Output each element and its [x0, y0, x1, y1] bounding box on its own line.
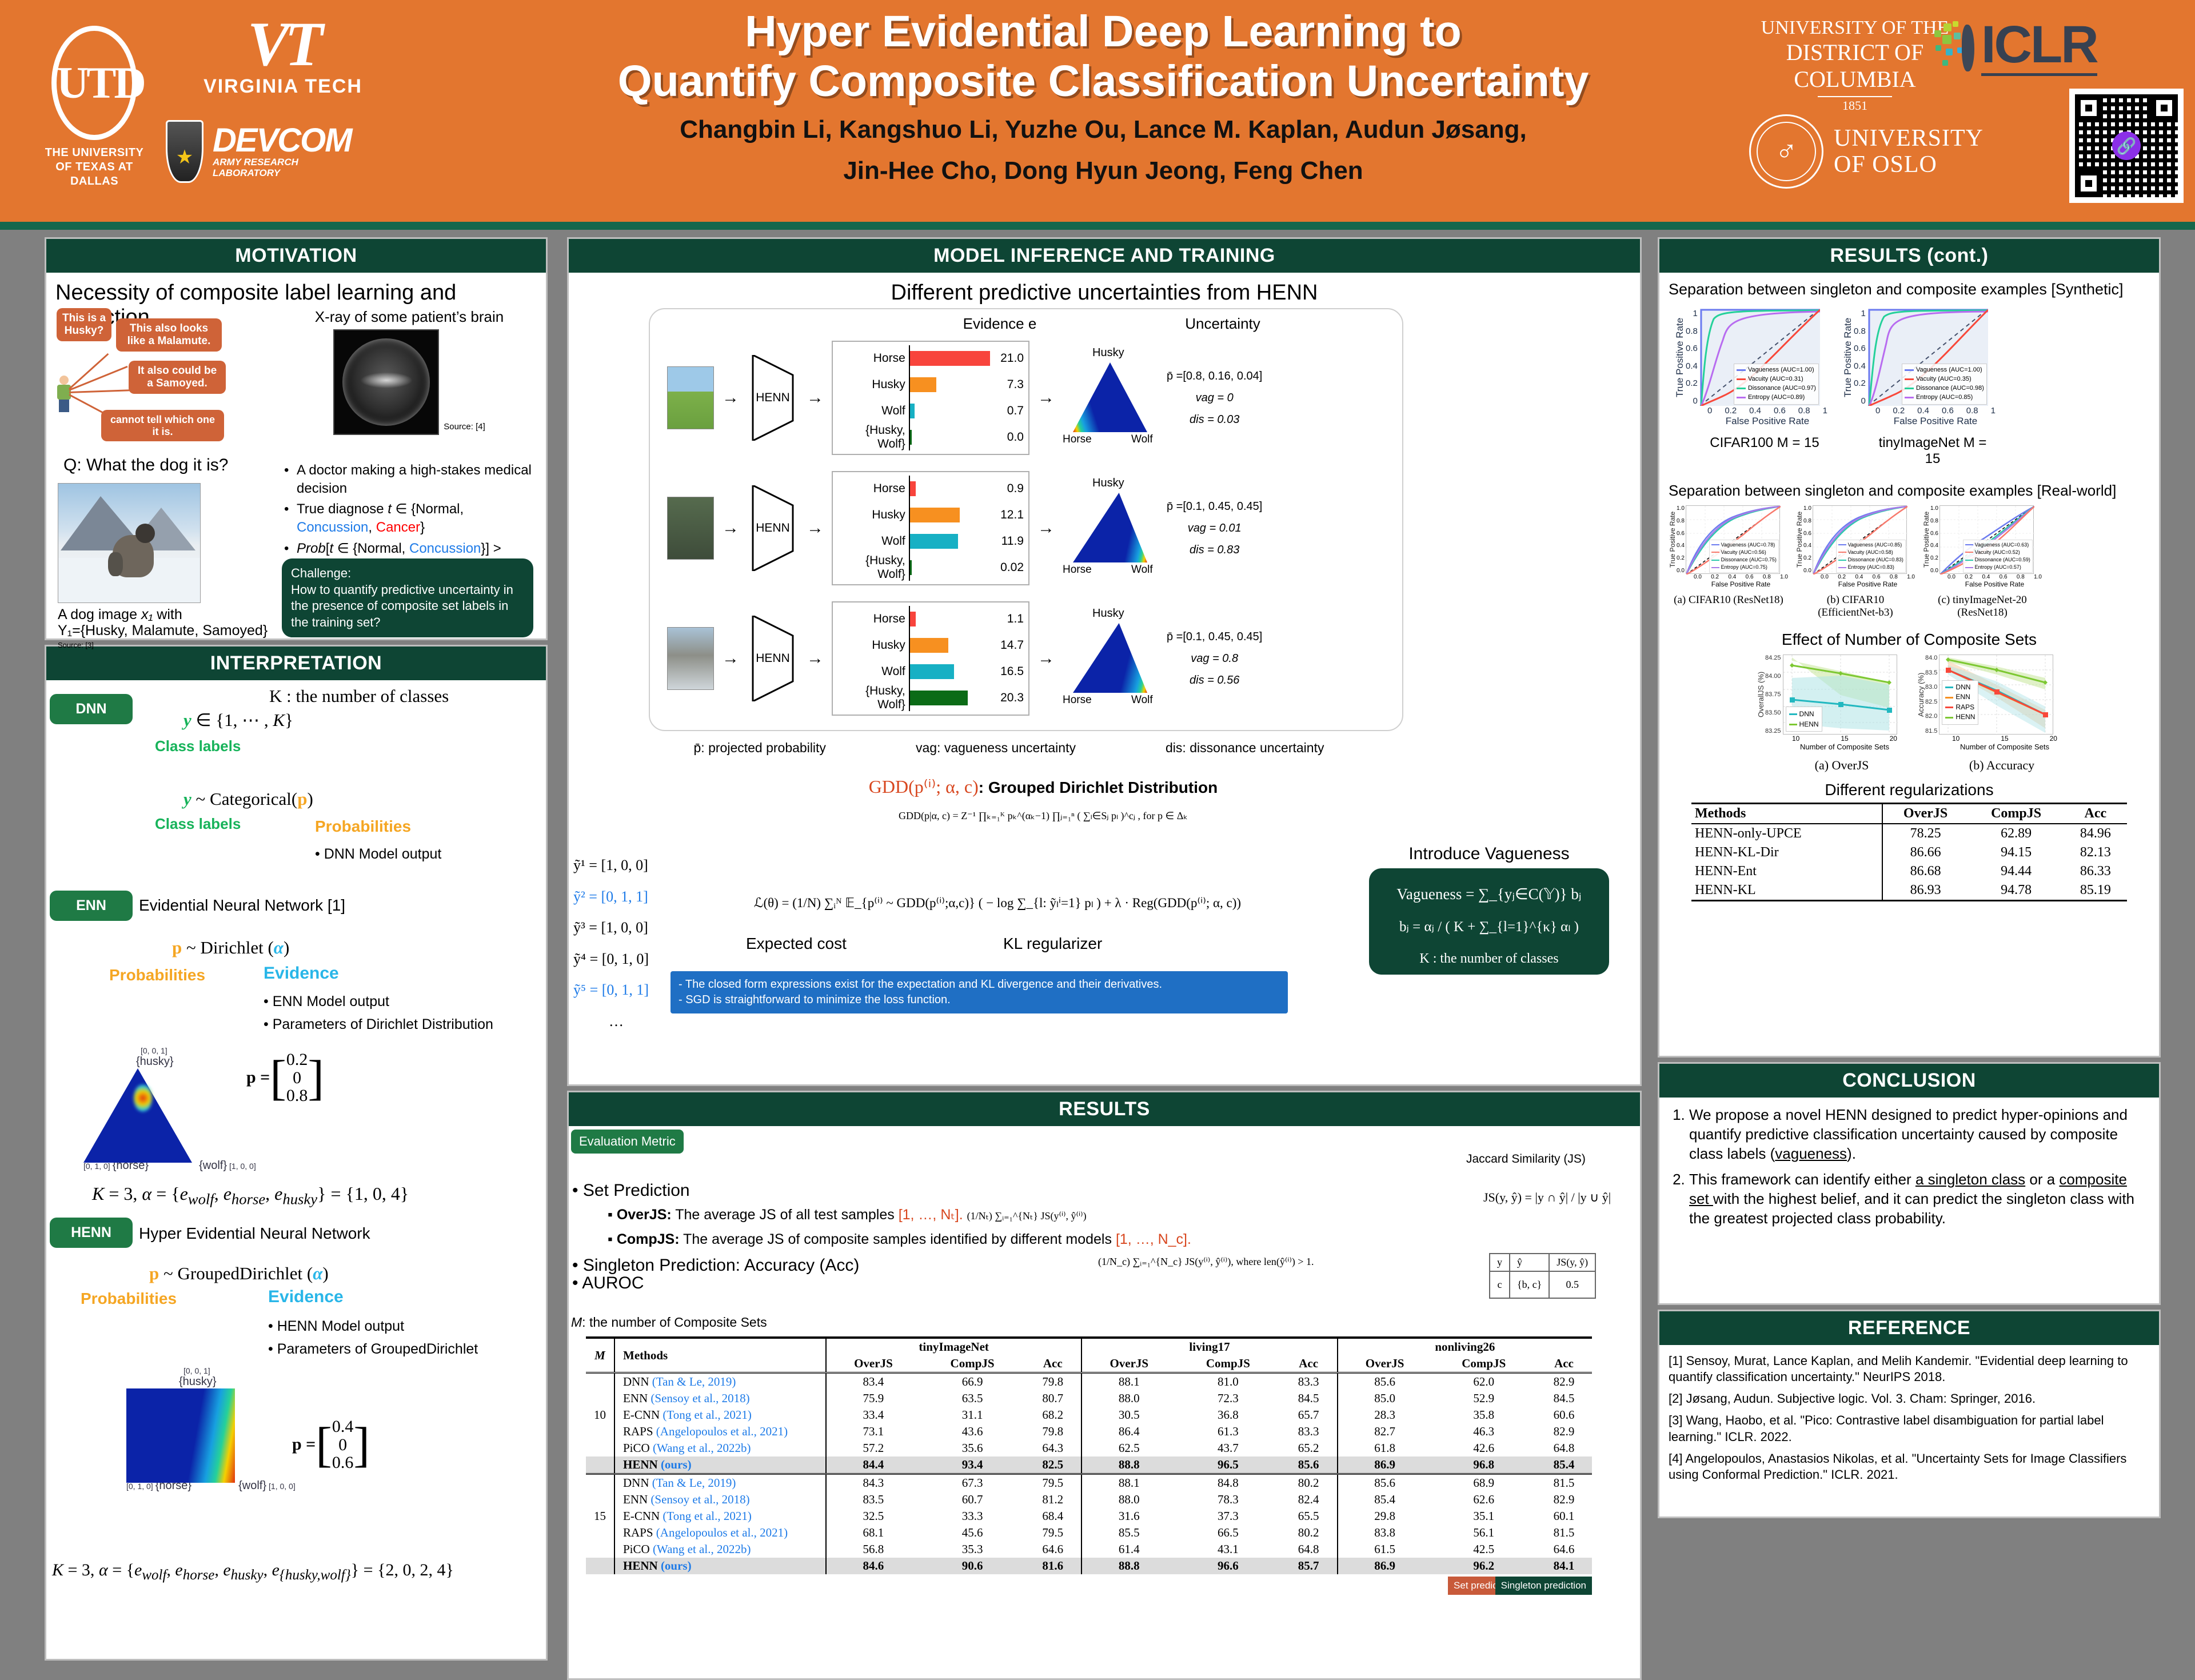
- enn-eq: p ~ Dirichlet (α): [172, 937, 289, 958]
- rw-caption: (b) CIFAR10 (EfficientNet-b3): [1795, 594, 1915, 619]
- cell-value: 32.5: [826, 1508, 920, 1525]
- cell-value: 86.9: [1338, 1558, 1432, 1574]
- cell-value: 33.3: [920, 1508, 1024, 1525]
- henn-p-vector: p = [ 0.4 0 0.6 ]: [292, 1418, 370, 1472]
- acc-xticks: 101520: [1947, 735, 2062, 743]
- rw-yticks: 1.00.80.60.40.20.0: [1803, 505, 1813, 574]
- cell-value: 82.4: [1280, 1491, 1338, 1508]
- evidence-bar: [910, 481, 916, 496]
- evidence-bar-track: [909, 345, 991, 372]
- enn-title: Evidential Neural Network [1]: [139, 896, 345, 915]
- cell-value: 84.5: [1536, 1390, 1592, 1407]
- roc-chart-realworld: True Positive Rate1.00.80.60.40.20.0Vagu…: [1795, 505, 1915, 619]
- realworld-charts: True Positive Rate1.00.80.60.40.20.0Vagu…: [1669, 505, 2150, 619]
- dnn-output-bullet: • DNN Model output: [315, 846, 441, 863]
- table-row: HENN-KL-Dir86.6694.1582.13: [1691, 843, 2127, 862]
- evidence-label: {Husky, Wolf}: [837, 424, 909, 451]
- interpretation-panel: INTERPRETATION DNN K : the number of cla…: [45, 645, 548, 1661]
- gdd-formula: GDD(p|α, c) = Z⁻¹ ∏ₖ₌₁ᴷ pₖ^(αₖ−1) ∏ⱼ₌₁ⁿ …: [775, 810, 1312, 822]
- cell-m: [586, 1456, 614, 1474]
- th-metric: OverJS: [826, 1355, 920, 1373]
- udc-line-2: DISTRICT OF: [1761, 39, 1949, 66]
- evidence-label: Wolf: [837, 534, 909, 548]
- th-dataset: living17: [1081, 1338, 1337, 1355]
- model-heading: MODEL INFERENCE AND TRAINING: [569, 239, 1640, 273]
- henn-probabilities-label: Probabilities: [81, 1290, 177, 1308]
- simplex-left-label: Horse: [1063, 694, 1092, 707]
- vagueness-value: vag = 0.01: [1167, 517, 1262, 539]
- regularization-block: Different regularizations MethodsOverJSC…: [1669, 781, 2150, 901]
- cell-value: 85.5: [1081, 1525, 1176, 1541]
- evidence-row: {Husky, Wolf}0.02: [837, 554, 1024, 581]
- evidence-bar: [910, 404, 915, 418]
- reg-th: Methods: [1691, 804, 1882, 824]
- simplex-density: [1073, 623, 1147, 693]
- bubble-3: It also could be a Samoyed.: [129, 361, 226, 394]
- cell-value: 42.5: [1432, 1541, 1536, 1558]
- cell-value: 84.8: [1176, 1474, 1280, 1492]
- dnn-probabilities-label: Probabilities: [315, 817, 411, 836]
- reg-cell: 94.78: [1969, 881, 2064, 901]
- evidence-bar-track: [909, 606, 991, 632]
- iclr-logo: ICLR: [1932, 13, 2172, 81]
- table-row: ENN (Sensoy et al., 2018)75.963.580.788.…: [586, 1390, 1592, 1407]
- henn-eq: p ~ GroupedDirichlet (α): [149, 1263, 329, 1284]
- cell-value: 64.3: [1024, 1440, 1081, 1456]
- cell-value: 78.3: [1176, 1491, 1280, 1508]
- reference-item-2: [2] Jøsang, Audun. Subjective logic. Vol…: [1669, 1391, 2150, 1407]
- cell-value: 82.7: [1338, 1423, 1432, 1440]
- cell-value: 83.8: [1338, 1525, 1432, 1541]
- vt-wordmark: VIRGINIA TECH: [189, 75, 377, 98]
- evidence-row: Horse1.1: [837, 606, 1024, 632]
- compjs-formula: (1/N_c) ∑ᵢ₌₁^{N_c} JS(y⁽ⁱ⁾, ŷ⁽ⁱ⁾), where…: [1098, 1256, 1430, 1268]
- evidence-bar: [910, 638, 948, 653]
- cell-value: 68.4: [1024, 1508, 1081, 1525]
- cell-value: 56.8: [826, 1541, 920, 1558]
- evaluation-metric-tag: Evaluation Metric: [571, 1130, 684, 1154]
- henn-evidence-label: Evidence: [268, 1287, 344, 1307]
- evidence-row: Husky7.3: [837, 372, 1024, 398]
- evidence-row: Horse21.0: [837, 345, 1024, 372]
- evidence-label: Horse: [837, 352, 909, 365]
- input-image-horse: [667, 366, 714, 429]
- ytilde-3: ỹ³ = [1, 0, 0]: [573, 912, 659, 944]
- overjs-yticks: 84.2584.0083.7583.5083.25: [1765, 655, 1783, 735]
- vagueness-title: Introduce Vagueness: [1369, 844, 1609, 864]
- rw-ylabel: True Positive Rate: [1795, 505, 1803, 574]
- qr-code[interactable]: 🔗: [2069, 89, 2184, 203]
- input-image-husky: [667, 497, 714, 560]
- cell-value: 96.2: [1432, 1558, 1536, 1574]
- evidence-label: Wolf: [837, 404, 909, 418]
- rw-ylabel: True Positive Rate: [1922, 505, 1930, 574]
- cell-value: 81.2: [1024, 1491, 1081, 1508]
- th-m: M: [586, 1338, 614, 1373]
- synthetic-title: Separation between singleton and composi…: [1669, 281, 2150, 298]
- cell-value: 60.7: [920, 1491, 1024, 1508]
- ytilde-2: ỹ² = [0, 1, 1]: [573, 881, 659, 913]
- dnn-class-labels-2: Class labels: [155, 815, 241, 833]
- cell-value: 68.9: [1432, 1474, 1536, 1492]
- cell-value: 52.9: [1432, 1390, 1536, 1407]
- bullet-set-prediction: • Set Prediction: [572, 1181, 1430, 1200]
- roc1-xticks: 00.20.40.60.81: [1707, 406, 1827, 416]
- evidence-bar-track: [909, 528, 991, 554]
- cell-value: 84.3: [826, 1474, 920, 1492]
- vagueness-value: vag = 0: [1167, 387, 1262, 409]
- cell-value: 64.8: [1536, 1440, 1592, 1456]
- left-column: MOTIVATION Necessity of composite label …: [45, 237, 548, 1661]
- iclr-mark-icon: [1932, 20, 1978, 74]
- cell-value: 68.1: [826, 1525, 920, 1541]
- shield-icon: ★: [166, 120, 203, 183]
- cell-value: 33.4: [826, 1407, 920, 1423]
- acc-yticks: 84.083.583.082.582.081.5: [1925, 655, 1939, 735]
- cell-method: E-CNN (Tong et al., 2021): [614, 1407, 826, 1423]
- jaccard-title: Jaccard Similarity (JS): [1466, 1152, 1586, 1166]
- synthetic-charts: True Positive Rate 10.80.60.40.20: [1669, 309, 2150, 467]
- motivation-heading: MOTIVATION: [46, 239, 546, 273]
- challenge-box: Challenge: How to quantify predictive un…: [282, 558, 533, 637]
- cell-value: 42.6: [1432, 1440, 1536, 1456]
- reference-heading: REFERENCE: [1659, 1311, 2159, 1345]
- virginia-tech-logo: VT VIRGINIA TECH: [189, 14, 377, 100]
- input-image-blurry-husky: [667, 627, 714, 690]
- ytilde-5: ỹ⁵ = [0, 1, 1]: [573, 975, 659, 1006]
- results-panel: RESULTS Evaluation Metric Jaccard Simila…: [567, 1091, 1642, 1680]
- evidence-panel: Horse0.9Husky12.1Wolf11.9{Husky, Wolf}0.…: [832, 471, 1029, 585]
- enn-p-vector: p = [ 0.2 0 0.8 ]: [246, 1051, 324, 1105]
- evidence-value: 11.9: [991, 534, 1024, 548]
- roc2-xlabel: False Positive Rate: [1875, 416, 1996, 427]
- devcom-logo: ★ DEVCOM ARMY RESEARCH LABORATORY: [166, 111, 372, 191]
- evidence-bar: [910, 430, 912, 445]
- cell-value: 61.5: [1338, 1541, 1432, 1558]
- reg-cell: 78.25: [1882, 824, 1969, 843]
- roc2-legend: Vagueness (AUC=1.00) Vacuity (AUC=0.35) …: [1902, 364, 1987, 405]
- th-dataset: tinyImageNet: [826, 1338, 1081, 1355]
- evidence-value: 16.5: [991, 665, 1024, 679]
- conclusion-list: We propose a novel HENN designed to pred…: [1689, 1106, 2150, 1228]
- roc2-ylabel: True Positive Rate: [1842, 309, 1854, 406]
- reference-panel: REFERENCE [1] Sensoy, Murat, Lance Kapla…: [1658, 1310, 2161, 1518]
- js-formula: JS(y, ŷ) = |y ∩ ŷ| / |y ∪ ŷ|: [1483, 1190, 1611, 1205]
- th-metric: OverJS: [1081, 1355, 1176, 1373]
- cell-value: 88.1: [1081, 1474, 1176, 1492]
- evidence-label: {Husky, Wolf}: [837, 684, 909, 712]
- cell-value: 35.1: [1432, 1508, 1536, 1525]
- rw-yticks: 1.00.80.60.40.20.0: [1677, 505, 1686, 574]
- uncertainty-values: p̄ =[0.8, 0.16, 0.04]vag = 0dis = 0.03: [1167, 365, 1262, 430]
- cell-value: 82.9: [1536, 1491, 1592, 1508]
- cell-value: 84.6: [826, 1558, 920, 1574]
- model-subhead: Different predictive uncertainties from …: [578, 281, 1631, 305]
- loss-formula: ℒ(θ) = (1/N) ∑ᵢᴺ 𝔼_{p⁽ⁱ⁾ ~ GDD(p⁽ⁱ⁾;α,c)…: [683, 896, 1312, 911]
- rw-xlabel: False Positive Rate: [1947, 580, 2042, 588]
- arrow-icon: →: [722, 649, 739, 668]
- cell-value: 61.4: [1081, 1541, 1176, 1558]
- udc-line-3: COLUMBIA: [1761, 66, 1949, 93]
- th-metric: Acc: [1536, 1355, 1592, 1373]
- chart-accuracy: Accuracy (%) 84.083.583.082.582.081.5: [1917, 655, 2062, 773]
- henn-tri-top-label: {husky}: [179, 1375, 344, 1388]
- cell-value: 57.2: [826, 1440, 920, 1456]
- reg-cell: 85.19: [2064, 881, 2127, 901]
- dissonance-value: dis = 0.03: [1167, 409, 1262, 430]
- evidence-row: Horse0.9: [837, 476, 1024, 502]
- rw-legend: Vagueness (AUC=0.85)Vacuity (AUC=0.58)Di…: [1836, 540, 1906, 573]
- arrow-icon: →: [1037, 518, 1055, 538]
- enn-bullet-1: • ENN Model output: [264, 993, 389, 1010]
- cell-value: 75.9: [826, 1390, 920, 1407]
- th-metric: CompJS: [1176, 1355, 1280, 1373]
- evidence-value: 12.1: [991, 508, 1024, 522]
- cell-value: 65.5: [1280, 1508, 1338, 1525]
- evidence-label: Wolf: [837, 665, 909, 679]
- cell-value: 88.1: [1081, 1373, 1176, 1391]
- th-metric: CompJS: [1432, 1355, 1536, 1373]
- table-row: DNN (Tan & Le, 2019)83.466.979.888.181.0…: [586, 1373, 1592, 1391]
- ytilde-1: ỹ¹ = [1, 0, 0]: [573, 850, 659, 881]
- simplex-left-label: Horse: [1063, 564, 1092, 576]
- reg-th: Acc: [2064, 804, 2127, 824]
- cell-value: 82.9: [1536, 1373, 1592, 1391]
- cell-method: ENN (Sensoy et al., 2018): [614, 1491, 826, 1508]
- dnn-eq-2: y ~ Categorical(p): [183, 789, 313, 809]
- cell-value: 43.7: [1176, 1440, 1280, 1456]
- cell-value: 80.7: [1024, 1390, 1081, 1407]
- henn-title: Hyper Evidential Neural Network: [139, 1224, 370, 1243]
- devcom-sub-l1: ARMY RESEARCH: [213, 157, 352, 168]
- evidence-bar-track: [909, 554, 991, 581]
- cell-value: 60.1: [1536, 1508, 1592, 1525]
- uncertainty-simplex: HuskyHorseWolf: [1063, 477, 1160, 580]
- poster-header: UTD THE UNIVERSITY OF TEXAS AT DALLAS VT…: [0, 0, 2195, 222]
- simplex-right-label: Wolf: [1131, 564, 1153, 576]
- cell-method: RAPS (Angelopoulos et al., 2021): [614, 1525, 826, 1541]
- uncertainty-simplex: HuskyHorseWolf: [1063, 607, 1160, 710]
- cell-value: 35.3: [920, 1541, 1024, 1558]
- henn-row: →HENN→Horse21.0Husky7.3Wolf0.7{Husky, Wo…: [657, 333, 1395, 463]
- cell-value: 56.1: [1432, 1525, 1536, 1541]
- evidence-value: 1.1: [991, 612, 1024, 626]
- utd-logo: UTD THE UNIVERSITY OF TEXAS AT DALLAS: [34, 26, 154, 191]
- table-row: HENN (ours)84.493.482.588.896.585.686.99…: [586, 1456, 1592, 1474]
- simplex-top-label: Husky: [1092, 477, 1124, 490]
- title-block: Hyper Evidential Deep Learning to Quanti…: [560, 7, 1646, 185]
- roc1-ylabel: True Positive Rate: [1674, 309, 1686, 406]
- closed-form-note: - The closed form expressions exist for …: [671, 971, 1288, 1013]
- reg-title: Different regularizations: [1691, 781, 2127, 799]
- interpretation-heading: INTERPRETATION: [46, 647, 546, 680]
- evidence-row: {Husky, Wolf}0.0: [837, 424, 1024, 450]
- evidence-row: Wolf16.5: [837, 659, 1024, 685]
- reference-list: [1] Sensoy, Murat, Lance Kaplan, and Mel…: [1659, 1345, 2159, 1517]
- reg-cell: 94.15: [1969, 843, 2064, 862]
- dnn-eq-1: y ∈ {1, ⋯ , K}: [183, 710, 293, 731]
- overjs-ylabel: OverallJS (%): [1757, 655, 1765, 735]
- cell-method: ENN (Sensoy et al., 2018): [614, 1390, 826, 1407]
- cell-value: 35.8: [1432, 1407, 1536, 1423]
- enn-probabilities-label: Probabilities: [109, 966, 205, 984]
- dog-source: Source: [3]: [58, 641, 268, 649]
- cell-m: [586, 1474, 614, 1492]
- simplex-right-label: Wolf: [1131, 694, 1153, 707]
- cell-value: 83.3: [1280, 1423, 1338, 1440]
- evidence-label: Husky: [837, 508, 909, 522]
- evidence-bar-track: [909, 424, 991, 450]
- reg-cell: HENN-Ent: [1691, 862, 1882, 881]
- table-row: PiCO (Wang et al., 2022b)56.835.364.661.…: [586, 1541, 1592, 1558]
- roc2-xticks: 00.20.40.60.81: [1875, 406, 1996, 416]
- results-cont-heading: RESULTS (cont.): [1659, 239, 2159, 273]
- evidence-value: 20.3: [991, 691, 1024, 705]
- cell-value: 85.0: [1338, 1390, 1432, 1407]
- rw-xlabel: False Positive Rate: [1821, 580, 1915, 588]
- cell-value: 81.6: [1024, 1558, 1081, 1574]
- legend-vag: vag: vagueness uncertainty: [916, 740, 1076, 756]
- evidence-value: 7.3: [991, 378, 1024, 392]
- cell-value: 81.0: [1176, 1373, 1280, 1391]
- loss-kl-label: KL regularizer: [1003, 935, 1102, 953]
- rw-xticks: 0.00.20.40.60.81.0: [1947, 574, 2042, 580]
- simplex-top-label: Husky: [1092, 346, 1124, 360]
- devcom-wordmark: DEVCOM: [213, 124, 352, 157]
- cell-value: 81.5: [1536, 1525, 1592, 1541]
- acc-legend: DNN ENN RAPS HENN: [1942, 680, 1978, 725]
- link-icon: 🔗: [2112, 131, 2141, 160]
- enn-tri-right-label: {wolf}: [199, 1159, 227, 1172]
- cell-m: 10: [586, 1407, 614, 1423]
- cell-method: DNN (Tan & Le, 2019): [614, 1474, 826, 1492]
- star-icon: ★: [176, 146, 193, 169]
- overjs-legend: DNN HENN: [1786, 707, 1822, 732]
- roc1-title: CIFAR100 M = 15: [1702, 435, 1827, 451]
- middle-column: MODEL INFERENCE AND TRAINING Different p…: [567, 237, 1642, 1680]
- evidence-value: 14.7: [991, 639, 1024, 652]
- js-th-yhat: ŷ: [1510, 1254, 1549, 1271]
- cell-m: 15: [586, 1508, 614, 1525]
- evidence-value: 0.02: [991, 561, 1024, 574]
- cell-value: 64.6: [1024, 1541, 1081, 1558]
- arrow-icon: →: [807, 649, 824, 668]
- table-row: RAPS (Angelopoulos et al., 2021)73.143.6…: [586, 1423, 1592, 1440]
- cell-value: 82.5: [1024, 1456, 1081, 1474]
- k-note: K : the number of classes: [269, 686, 449, 707]
- cell-value: 37.3: [1176, 1508, 1280, 1525]
- th-metric: OverJS: [1338, 1355, 1432, 1373]
- regularization-table: MethodsOverJSCompJSAccHENN-only-UPCE78.2…: [1691, 803, 2127, 901]
- devcom-sub-l2: LABORATORY: [213, 168, 352, 179]
- cell-m: [586, 1558, 614, 1574]
- header-divider: [0, 222, 2195, 230]
- enn-evidence-label: Evidence: [264, 964, 339, 983]
- henn-alpha-eq: K = 3, α = {ewolf, ehorse, ehusky, e{hus…: [52, 1561, 454, 1583]
- cell-value: 85.7: [1280, 1558, 1338, 1574]
- oslo-seal-icon: ♂: [1749, 114, 1823, 189]
- cell-value: 79.8: [1024, 1373, 1081, 1391]
- cell-value: 84.5: [1280, 1390, 1338, 1407]
- th-dataset: nonliving26: [1338, 1338, 1592, 1355]
- evidence-bar-track: [909, 502, 991, 528]
- rw-xticks: 0.00.20.40.60.81.0: [1821, 574, 1915, 580]
- evidence-value: 0.7: [991, 404, 1024, 418]
- evidence-label: Husky: [837, 378, 909, 392]
- author-line-1: Changbin Li, Kangshuo Li, Yuzhe Ou, Lanc…: [560, 115, 1646, 144]
- motivation-panel: MOTIVATION Necessity of composite label …: [45, 237, 548, 640]
- cell-value: 84.1: [1536, 1558, 1592, 1574]
- th-methods: Methods: [614, 1338, 826, 1373]
- table-row: HENN-only-UPCE78.2562.8984.96: [1691, 824, 2127, 843]
- cell-value: 86.9: [1338, 1456, 1432, 1474]
- utd-oval-mark: UTD: [51, 26, 137, 140]
- cell-value: 67.3: [920, 1474, 1024, 1492]
- uncertainty-values: p̄ =[0.1, 0.45, 0.45]vag = 0.8dis = 0.56: [1167, 626, 1262, 691]
- henn-tri-top-coord: [0, 0, 1]: [183, 1366, 344, 1375]
- roc-chart-realworld: True Positive Rate1.00.80.60.40.20.0Vagu…: [1669, 505, 1789, 619]
- roc2-yticks: 10.80.60.40.20: [1854, 309, 1868, 406]
- reg-cell: HENN-KL: [1691, 881, 1882, 901]
- cell-value: 62.5: [1081, 1440, 1176, 1456]
- arrow-icon: →: [807, 518, 824, 538]
- reg-cell: 86.66: [1882, 843, 1969, 862]
- cell-value: 80.2: [1280, 1525, 1338, 1541]
- cell-value: 61.3: [1176, 1423, 1280, 1440]
- cell-value: 96.5: [1176, 1456, 1280, 1474]
- evidence-label: Horse: [837, 482, 909, 496]
- results-table-wrap: MMethodstinyImageNetliving17nonliving26O…: [586, 1336, 1592, 1597]
- cell-value: 36.8: [1176, 1407, 1280, 1423]
- realworld-title: Separation between singleton and composi…: [1669, 482, 2150, 500]
- cell-value: 73.1: [826, 1423, 920, 1440]
- evidence-label: Horse: [837, 612, 909, 626]
- rw-caption: (a) CIFAR10 (ResNet18): [1669, 594, 1789, 606]
- cell-value: 65.7: [1280, 1407, 1338, 1423]
- brain-xray-image: [333, 329, 439, 435]
- cell-value: 83.4: [826, 1373, 920, 1391]
- cell-value: 80.2: [1280, 1474, 1338, 1492]
- author-line-2: Jin-Hee Cho, Dong Hyun Jeong, Feng Chen: [560, 157, 1646, 185]
- enn-tri-right-coord: [1, 0, 0]: [229, 1162, 256, 1171]
- conclusion-heading: CONCLUSION: [1659, 1064, 2159, 1098]
- vagueness-eq-2: bⱼ = αⱼ / ( K + ∑_{l=1}^{κ} αₗ ): [1378, 918, 1600, 935]
- arrow-icon: →: [1037, 649, 1055, 668]
- cell-m: [586, 1440, 614, 1456]
- cell-value: 30.5: [1081, 1407, 1176, 1423]
- cell-value: 85.6: [1338, 1373, 1432, 1391]
- acc-xlabel: Number of Composite Sets: [1947, 743, 2062, 751]
- evidence-bar: [910, 351, 990, 366]
- dnn-class-labels-1: Class labels: [155, 737, 241, 755]
- roc1-yticks: 10.80.60.40.20: [1686, 309, 1700, 406]
- table-row: DNN (Tan & Le, 2019)84.367.379.588.184.8…: [586, 1474, 1592, 1492]
- evidence-label: {Husky, Wolf}: [837, 554, 909, 581]
- cell-value: 86.4: [1081, 1423, 1176, 1440]
- evidence-column-header: Evidence e: [897, 315, 1103, 333]
- title-line-2: Quantify Composite Classification Uncert…: [560, 57, 1646, 106]
- results-heading: RESULTS: [569, 1092, 1640, 1126]
- cell-m: [586, 1525, 614, 1541]
- cell-value: 46.3: [1432, 1423, 1536, 1440]
- reg-cell: 62.89: [1969, 824, 2064, 843]
- reg-th: CompJS: [1969, 804, 2064, 824]
- ytilde-4: ỹ⁴ = [0, 1, 0]: [573, 944, 659, 975]
- conclusion-item-1: We propose a novel HENN designed to pred…: [1689, 1106, 2150, 1163]
- page-title: Hyper Evidential Deep Learning to Quanti…: [560, 7, 1646, 106]
- conclusion-panel: CONCLUSION We propose a novel HENN desig…: [1658, 1062, 2161, 1305]
- cell-method: PiCO (Wang et al., 2022b): [614, 1440, 826, 1456]
